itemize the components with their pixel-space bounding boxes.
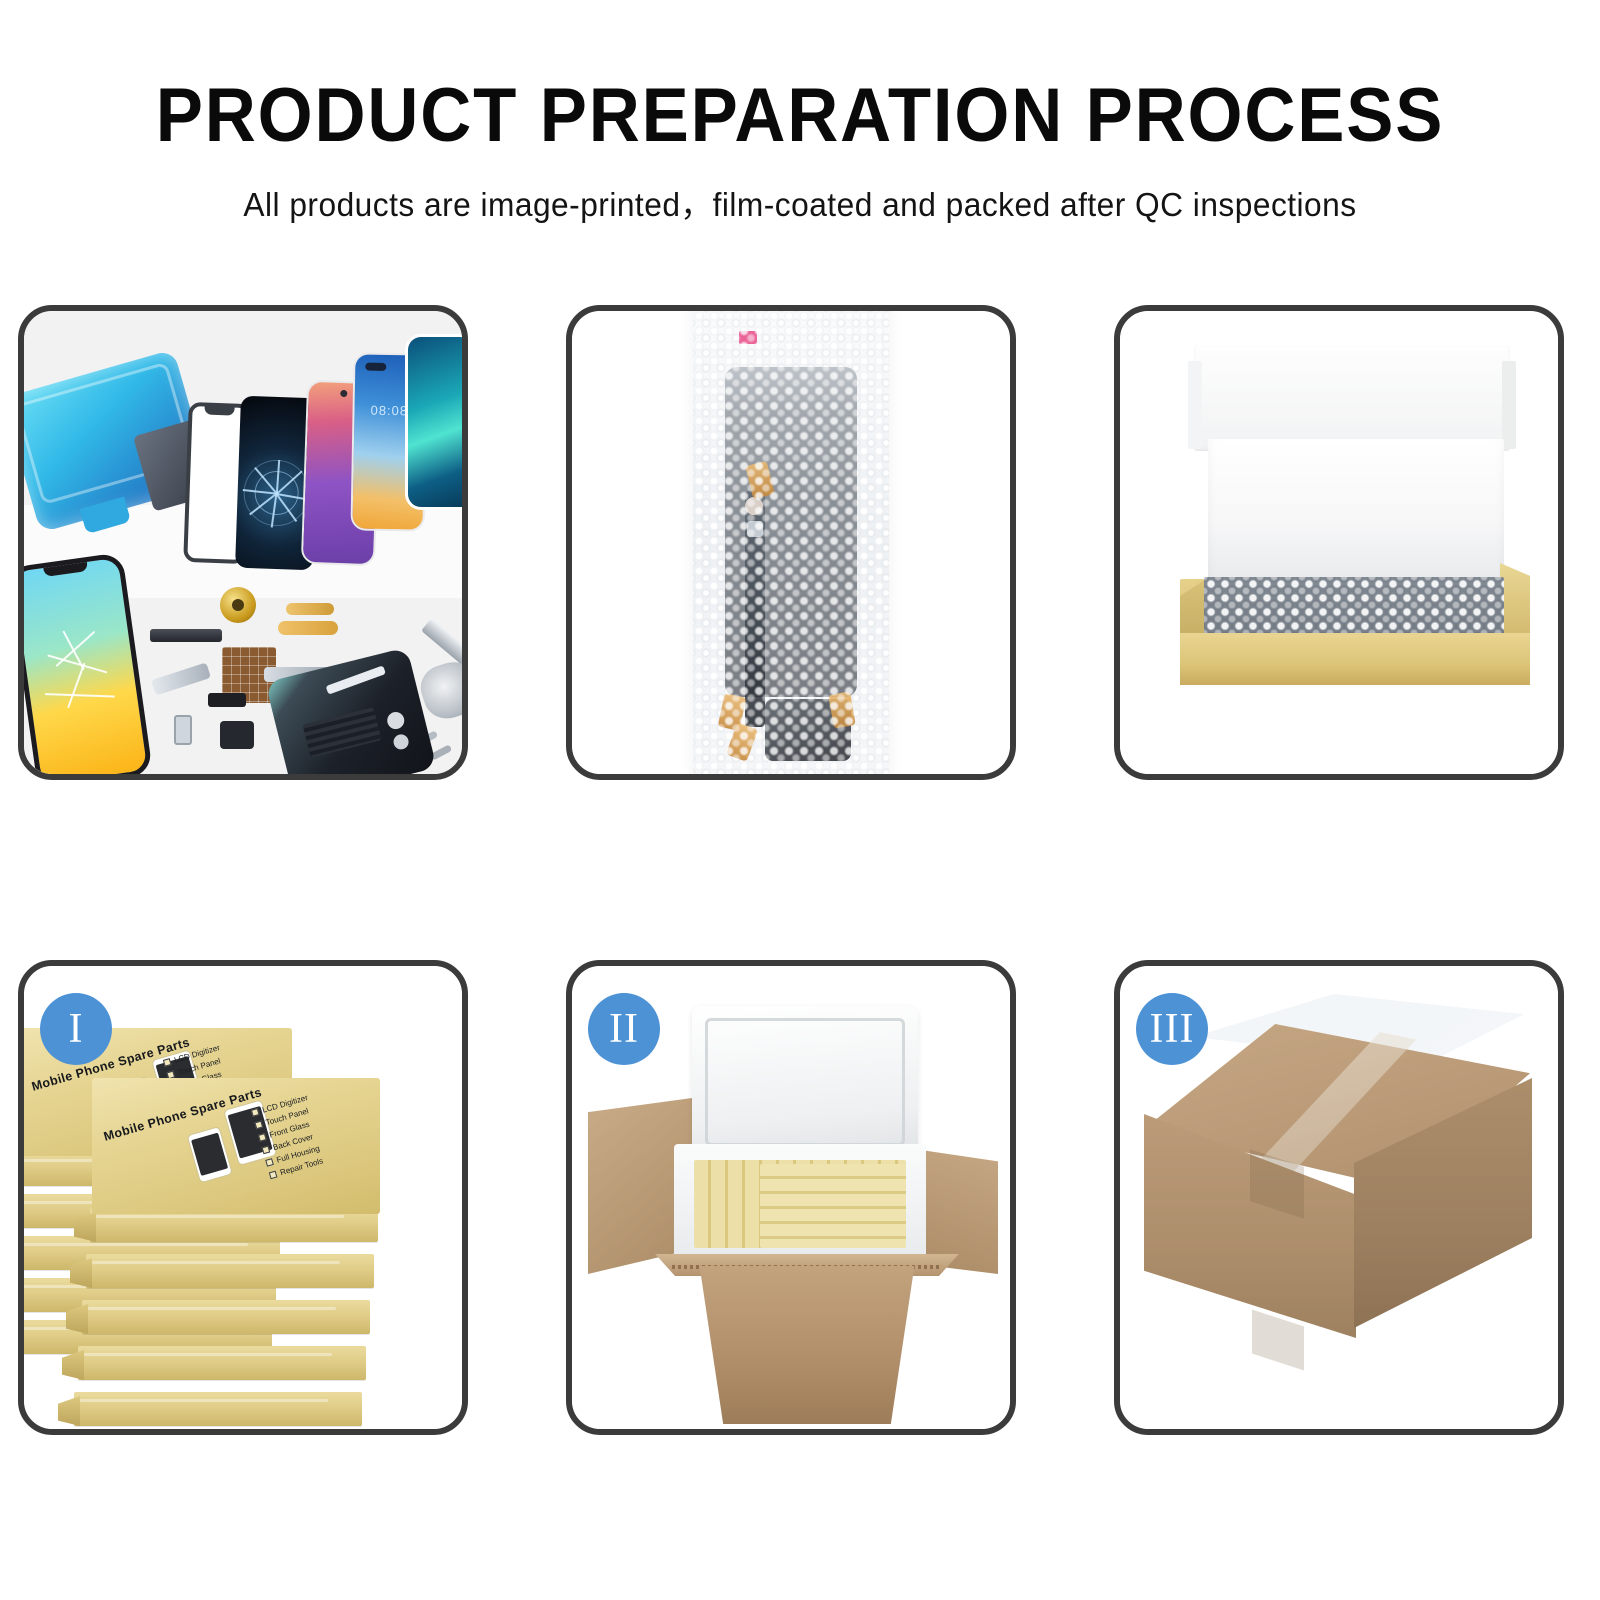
- gold-tray-front: [1180, 633, 1530, 685]
- step-panel-2: [566, 305, 1016, 780]
- step-image-3: [1120, 311, 1558, 774]
- step-panel-3: [1114, 305, 1564, 780]
- step-badge-1: I: [40, 993, 112, 1065]
- sim-tray: [174, 715, 192, 745]
- step-image-1: 08:08: [24, 311, 462, 774]
- step-panel-1: 08:08: [18, 305, 468, 780]
- grey-bubble-padding: [1204, 577, 1504, 635]
- pink-qc-sticker: [739, 331, 757, 344]
- carton-body: [676, 1266, 938, 1424]
- teal-wave-phone: [408, 337, 462, 507]
- flex-cable-4: [151, 662, 211, 695]
- product-preparation-infographic: PRODUCT PREPARATION PROCESS All products…: [0, 0, 1600, 1600]
- gold-box-top-right: Mobile Phone Spare Parts LCD Digitizer T…: [92, 1078, 380, 1214]
- white-box-lid: [1194, 345, 1510, 451]
- step-image-2: [572, 311, 1010, 774]
- step-badge-3: III: [1136, 993, 1208, 1065]
- gold-boxes-inside-2: [760, 1164, 906, 1248]
- vibration-motor: [220, 587, 256, 623]
- process-steps-grid: 08:08: [18, 305, 1582, 1440]
- flex-round-part: [745, 497, 763, 515]
- small-component-1: [208, 693, 246, 707]
- gold-flex-cable-1: [278, 621, 338, 635]
- styrofoam-lid: [692, 1006, 918, 1158]
- bubble-wrap-pack: [693, 311, 889, 774]
- header: PRODUCT PREPARATION PROCESS All products…: [0, 76, 1600, 226]
- page-title: PRODUCT PREPARATION PROCESS: [56, 76, 1544, 156]
- white-foam-sheet: [1208, 439, 1504, 591]
- step-badge-2: II: [588, 993, 660, 1065]
- page-subtitle: All products are image-printed，film-coat…: [32, 178, 1568, 226]
- speaker-bar: [150, 629, 222, 642]
- flex-chip: [747, 521, 763, 537]
- small-component-2: [220, 721, 254, 749]
- gold-contact-3: [828, 691, 856, 728]
- box-checklist-right: LCD Digitizer Touch Panel Front Glass Ba…: [251, 1078, 382, 1190]
- gold-flex-cable-2: [286, 603, 334, 615]
